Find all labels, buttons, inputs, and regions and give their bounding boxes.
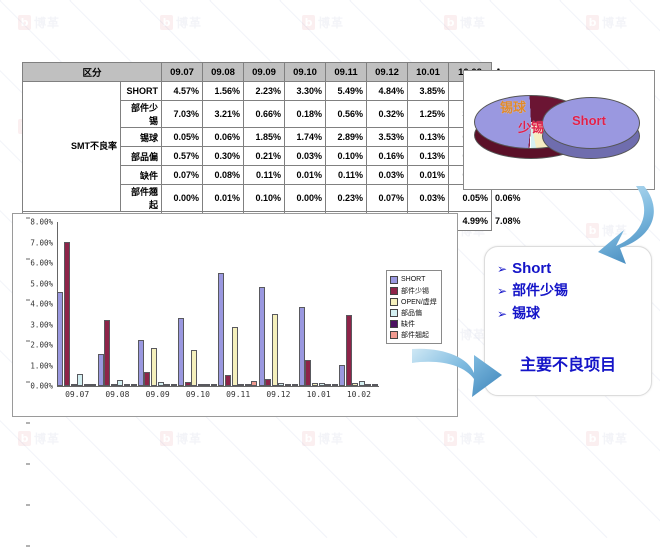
watermark-hatch	[210, 0, 660, 1]
watermark-hatch	[0, 0, 118, 1]
y-axis-tick-label: 1.00%	[30, 361, 53, 370]
table-cell: 0.23%	[326, 185, 367, 212]
watermark-hatch	[140, 0, 660, 1]
bar	[117, 380, 123, 386]
watermark-text: 博革	[176, 14, 202, 31]
watermark-mark-icon: b	[18, 15, 31, 30]
bar	[151, 348, 157, 386]
legend-label: OPEN/虚焊	[401, 297, 437, 307]
legend-item: 部件少锡	[390, 285, 437, 296]
watermark-mark-icon: b	[444, 431, 457, 446]
bar	[245, 384, 251, 386]
legend-label: SHORT	[401, 276, 425, 283]
y-axis-tick-label: 8.00%	[30, 218, 53, 227]
y-axis-tick-mark	[26, 300, 30, 301]
table-vertical-label: SMT不良率	[23, 82, 121, 212]
y-axis-tick-label: 2.00%	[30, 341, 53, 350]
table-cell: 0.00%	[162, 185, 203, 212]
table-row-label: 部品偏	[121, 147, 162, 166]
bar	[84, 384, 90, 386]
bar	[232, 327, 238, 386]
table-cell: 0.03%	[367, 166, 408, 185]
bar	[299, 307, 305, 386]
legend-item: OPEN/虚焊	[390, 296, 437, 307]
watermark-logo: b博革	[586, 430, 628, 447]
bar	[124, 384, 130, 386]
table-cell: 0.13%	[408, 128, 449, 147]
bar	[259, 287, 265, 386]
table-cell: 7.03%	[162, 101, 203, 128]
watermark-text: 博革	[602, 14, 628, 31]
x-axis-tick-label: 09.11	[226, 390, 250, 399]
legend-item: 部件翘起	[390, 329, 437, 340]
bar	[265, 379, 271, 386]
table-cell: 1.25%	[408, 101, 449, 128]
x-axis-tick-label: 09.09	[146, 390, 170, 399]
pie-slice-label: 少锡	[518, 117, 544, 136]
table-cell: 0.01%	[285, 166, 326, 185]
table-cell: 0.66%	[244, 101, 285, 128]
watermark-logo: b博革	[302, 14, 344, 31]
bar	[77, 374, 83, 386]
legend-label: 缺件	[401, 319, 415, 329]
arrow-pie-to-callout	[540, 186, 660, 264]
x-axis-tick-label: 10.02	[347, 390, 371, 399]
bar	[251, 381, 257, 386]
table-row-label: SHORT	[121, 82, 162, 101]
x-axis-tick-label: 09.07	[65, 390, 89, 399]
watermark-text: 博革	[460, 14, 486, 31]
table-cell: 0.01%	[203, 185, 244, 212]
table-cell: 3.85%	[408, 82, 449, 101]
table-cell: 0.13%	[408, 147, 449, 166]
table-header-0909: 09.09	[244, 63, 285, 82]
callout-title: 主要不良项目	[485, 351, 651, 375]
table-cell: 0.21%	[244, 147, 285, 166]
table-cell: 5.49%	[326, 82, 367, 101]
watermark-hatch	[560, 0, 660, 1]
legend-label: 部件少锡	[401, 286, 429, 296]
watermark-logo: b博革	[160, 14, 202, 31]
table-header-0908: 09.08	[203, 63, 244, 82]
y-axis-tick-label: 4.00%	[30, 300, 53, 309]
table-cell: 0.32%	[367, 101, 408, 128]
watermark-mark-icon: b	[302, 431, 315, 446]
y-axis-tick-label: 5.00%	[30, 279, 53, 288]
watermark-text: 博革	[176, 430, 202, 447]
plot-area: 0.00%1.00%2.00%3.00%4.00%5.00%6.00%7.00%…	[57, 222, 379, 386]
bar	[191, 350, 197, 386]
table-header-0912: 09.12	[367, 63, 408, 82]
legend-swatch-icon	[390, 320, 398, 328]
table-header-0910: 09.10	[285, 63, 326, 82]
bar-group	[259, 222, 299, 386]
table-header-row: 区分 09.07 09.08 09.09 09.10 09.11 09.12 1…	[23, 63, 492, 82]
bar	[312, 383, 318, 386]
legend-item: SHORT	[390, 274, 437, 285]
legend-swatch-icon	[390, 276, 398, 284]
y-axis-tick-mark	[26, 505, 30, 506]
x-axis-tick-label: 10.01	[307, 390, 331, 399]
table-cell: 1.85%	[244, 128, 285, 147]
legend-swatch-icon	[390, 331, 398, 339]
legend-item: 缺件	[390, 318, 437, 329]
table-cell: 1.56%	[203, 82, 244, 101]
watermark-text: 博革	[460, 430, 486, 447]
watermark-mark-icon: b	[444, 15, 457, 30]
y-axis-tick-label: 6.00%	[30, 259, 53, 268]
watermark-mark-icon: b	[160, 431, 173, 446]
table-cell: 3.30%	[285, 82, 326, 101]
table-cell: 3.21%	[203, 101, 244, 128]
table-cell: 0.05%	[162, 128, 203, 147]
bar	[278, 383, 284, 386]
bar	[57, 292, 63, 386]
table-cell: 1.74%	[285, 128, 326, 147]
callout-bullet-item: ➢部件少锡	[485, 280, 651, 300]
table-header-0911: 09.11	[326, 63, 367, 82]
bar	[144, 372, 150, 386]
table-cell: 0.03%	[408, 185, 449, 212]
bar-group	[57, 222, 97, 386]
bar-group	[178, 222, 218, 386]
y-axis-tick-label: 7.00%	[30, 238, 53, 247]
x-axis-tick-label: 09.10	[186, 390, 210, 399]
table-cell: 0.00%	[285, 185, 326, 212]
table-cell: 0.08%	[203, 166, 244, 185]
table-cell: 0.03%	[285, 147, 326, 166]
table-cell: 0.16%	[367, 147, 408, 166]
bar	[238, 384, 244, 386]
chevron-right-icon: ➢	[497, 263, 507, 275]
bar	[138, 340, 144, 386]
y-axis-tick-label: 0.00%	[30, 382, 53, 391]
table-cell: 2.89%	[326, 128, 367, 147]
bar	[198, 384, 204, 386]
watermark-hatch	[630, 0, 660, 1]
legend-label: 部件翘起	[401, 330, 429, 340]
y-axis-tick-mark	[26, 259, 30, 260]
chevron-right-icon: ➢	[497, 308, 507, 320]
table-row-label: 缺件	[121, 166, 162, 185]
watermark-text: 博革	[34, 14, 60, 31]
bar	[292, 384, 298, 386]
x-axis-tick-label: 09.12	[266, 390, 290, 399]
bar-group	[339, 222, 379, 386]
watermark-logo: b博革	[18, 14, 60, 31]
pie-chart-panel: Short少锡锡球	[463, 70, 655, 190]
watermark-hatch	[280, 0, 660, 1]
bar	[365, 384, 371, 386]
callout-bullet-label: 部件少锡	[512, 280, 568, 300]
bar	[90, 384, 96, 386]
table-cell: 0.11%	[326, 166, 367, 185]
bar	[158, 382, 164, 386]
watermark-hatch	[70, 0, 608, 1]
bar	[171, 384, 177, 386]
watermark-logo: b博革	[444, 430, 486, 447]
bar	[339, 365, 345, 386]
watermark-mark-icon: b	[160, 15, 173, 30]
chevron-right-icon: ➢	[497, 285, 507, 297]
watermark-hatch	[0, 0, 398, 1]
watermark-text: 博革	[602, 430, 628, 447]
legend-label: 部品偏	[401, 308, 422, 318]
legend-swatch-icon	[390, 298, 398, 306]
table-cell: 0.10%	[244, 185, 285, 212]
table-cell: 0.56%	[326, 101, 367, 128]
bar-group	[299, 222, 339, 386]
table-cell: 0.07%	[162, 166, 203, 185]
table-cell: 0.57%	[162, 147, 203, 166]
table-row-label: 部件少锡	[121, 101, 162, 128]
table-cell: 3.53%	[367, 128, 408, 147]
y-axis-tick-mark	[26, 218, 30, 219]
y-axis-tick-mark	[26, 423, 30, 424]
bar	[71, 384, 77, 386]
pie-chart: Short少锡锡球	[472, 83, 646, 179]
watermark-logo: b博革	[18, 430, 60, 447]
bar	[352, 383, 358, 386]
table-header-0907: 09.07	[162, 63, 203, 82]
y-axis-tick-label: 3.00%	[30, 320, 53, 329]
watermark-logo: b博革	[302, 430, 344, 447]
bar	[204, 384, 210, 386]
watermark-hatch	[490, 0, 660, 1]
watermark-hatch	[0, 0, 188, 1]
watermark-text: 博革	[460, 326, 486, 343]
bar	[131, 384, 137, 386]
bar	[359, 381, 365, 386]
bar	[319, 383, 325, 386]
bar-chart-legend: SHORT部件少锡OPEN/虚焊部品偏缺件部件翘起	[386, 270, 442, 344]
watermark-mark-icon: b	[18, 431, 31, 446]
bar	[346, 315, 352, 386]
table-header-1001: 10.01	[408, 63, 449, 82]
watermark-hatch	[0, 0, 258, 1]
callout-bullet-label: 锡球	[512, 303, 540, 323]
watermark-hatch	[0, 0, 538, 1]
watermark-logo: b博革	[444, 14, 486, 31]
table-row: SMT不良率SHORT4.57%1.56%2.23%3.30%5.49%4.84…	[23, 82, 492, 101]
watermark-hatch	[0, 0, 468, 1]
table-cell: 4.84%	[367, 82, 408, 101]
watermark-mark-icon: b	[586, 15, 599, 30]
arrow-chart-to-callout	[412, 345, 504, 401]
table-row-label: 锡球	[121, 128, 162, 147]
bar	[164, 384, 170, 386]
watermark-text: 博革	[34, 430, 60, 447]
callout-bullet-item: ➢锡球	[485, 303, 651, 323]
bar	[285, 384, 291, 386]
watermark-hatch	[350, 0, 660, 1]
table-row-label: 部件翘起	[121, 185, 162, 212]
bar	[98, 354, 104, 386]
x-axis-tick-label: 09.08	[105, 390, 129, 399]
pie-slice-label: 锡球	[500, 97, 526, 116]
table-cell: 0.10%	[326, 147, 367, 166]
table-cell: 0.06%	[203, 128, 244, 147]
bar	[332, 384, 338, 386]
bar	[104, 320, 110, 386]
bar	[218, 273, 224, 386]
bar	[111, 384, 117, 386]
y-axis-tick-mark	[26, 382, 30, 383]
y-axis-tick-mark	[26, 341, 30, 342]
table-cell: 0.07%	[367, 185, 408, 212]
bar	[185, 382, 191, 386]
bar	[372, 384, 378, 386]
bar	[325, 384, 331, 386]
bar-group	[138, 222, 178, 386]
table-cell: 2.23%	[244, 82, 285, 101]
watermark-text: 博革	[318, 14, 344, 31]
table-cell: 0.30%	[203, 147, 244, 166]
bar-group	[98, 222, 138, 386]
pie-slice-label: Short	[572, 113, 606, 128]
key-defects-callout: ➢Short➢部件少锡➢锡球 主要不良项目	[484, 246, 652, 396]
watermark-logo: b博革	[586, 14, 628, 31]
bar	[64, 242, 70, 386]
bar	[225, 375, 231, 386]
table-body: SMT不良率SHORT4.57%1.56%2.23%3.30%5.49%4.84…	[23, 82, 492, 231]
table-cell: 4.57%	[162, 82, 203, 101]
bar	[178, 318, 184, 386]
y-axis-tick-mark	[26, 546, 30, 547]
table-header-category: 区分	[23, 63, 162, 82]
bar	[211, 384, 217, 386]
watermark-text: 博革	[318, 430, 344, 447]
watermark-mark-icon: b	[586, 431, 599, 446]
watermark-logo: b博革	[160, 430, 202, 447]
table-cell: 0.01%	[408, 166, 449, 185]
legend-swatch-icon	[390, 309, 398, 317]
x-axis-line	[57, 386, 379, 387]
watermark-hatch	[420, 0, 660, 1]
watermark-mark-icon: b	[302, 15, 315, 30]
bar	[305, 360, 311, 386]
bar	[272, 314, 278, 386]
watermark-hatch	[0, 0, 328, 1]
legend-item: 部品偏	[390, 307, 437, 318]
y-axis-tick-mark	[26, 464, 30, 465]
table-cell: 0.18%	[285, 101, 326, 128]
legend-swatch-icon	[390, 287, 398, 295]
table-cell: 0.11%	[244, 166, 285, 185]
smt-defect-rate-table: 区分 09.07 09.08 09.09 09.10 09.11 09.12 1…	[22, 62, 492, 231]
bar-group	[218, 222, 258, 386]
